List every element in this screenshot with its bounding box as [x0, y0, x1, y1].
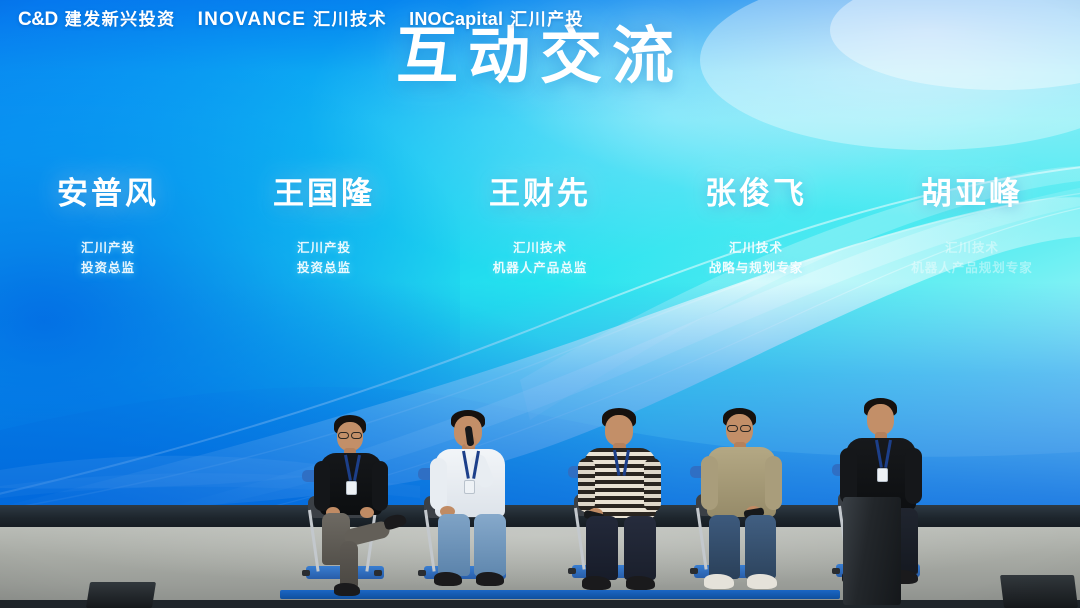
p2-leg-left — [438, 514, 470, 576]
panelist-2: 王国隆 汇川产投 投资总监 — [216, 178, 432, 288]
panelist-5-role: 机器人产品规划专家 — [864, 257, 1080, 276]
p5-arm-right — [905, 448, 922, 504]
panelist-1-role: 投资总监 — [0, 257, 216, 276]
conference-stage-photo: C&D 建发新兴投资 INOVANCE 汇川技术 INOCapital 汇川产投… — [0, 0, 1080, 608]
inocapital-wordmark: INOCapital — [409, 10, 503, 28]
panelist-person-1 — [300, 415, 400, 595]
stage-monitor-front-right — [1000, 575, 1078, 608]
p2-shoe-right — [476, 572, 504, 586]
p4-arm-right — [765, 456, 782, 510]
stage-front-edge — [0, 600, 1080, 608]
p4-leg-left — [709, 515, 740, 579]
cd-jianfa-logo: C&D 建发新兴投资 — [18, 10, 176, 29]
inocapital-chinese: 汇川产投 — [510, 11, 584, 28]
panelist-3-role: 机器人产品总监 — [432, 257, 648, 276]
p2-shoe-left — [434, 572, 462, 586]
cd-logo-mark: C&D — [18, 10, 58, 29]
p4-sneaker-right — [747, 574, 777, 589]
p3-head — [605, 415, 633, 446]
panelist-4-name: 张俊飞 — [648, 178, 864, 209]
p1-hand-right — [360, 507, 374, 518]
inovance-chinese: 汇川技术 — [313, 11, 387, 28]
p3-shoe-right — [626, 576, 655, 590]
panelist-5-name: 胡亚峰 — [864, 178, 1080, 209]
p2-badge — [464, 480, 475, 494]
panelist-person-4 — [688, 408, 796, 600]
panelist-2-org: 汇川产投 — [216, 241, 432, 257]
stage-monitor-center-tall — [843, 497, 901, 605]
p4-glasses-left — [727, 425, 738, 432]
p4-arm-left — [701, 456, 718, 510]
p4-sneaker-left — [704, 574, 734, 589]
panelist-person-3 — [566, 408, 674, 600]
panelist-5: 胡亚峰 汇川技术 机器人产品规划专家 — [864, 178, 1080, 288]
panelist-3-org: 汇川技术 — [432, 241, 648, 257]
p3-leg-left — [586, 516, 618, 580]
p2-arm-left — [430, 458, 447, 510]
p3-shoe-left — [582, 576, 611, 590]
panelist-2-name: 王国隆 — [216, 178, 432, 209]
p5-head — [867, 404, 894, 435]
inovance-logo: INOVANCE 汇川技术 — [198, 10, 387, 29]
p3-leg-right — [624, 516, 656, 580]
stage-monitor-front-left — [86, 582, 156, 608]
p2-leg-right — [474, 514, 506, 576]
p1-shin — [340, 541, 358, 589]
panelist-person-2 — [418, 410, 526, 598]
panelist-1: 安普风 汇川产投 投资总监 — [0, 178, 216, 288]
p3-arm-left — [578, 458, 595, 512]
p4-glasses-right — [740, 425, 751, 432]
p5-arm-left — [840, 448, 857, 504]
panelist-name-row: 安普风 汇川产投 投资总监 王国隆 汇川产投 投资总监 王财先 汇川技术 机器人… — [0, 178, 1080, 288]
p1-badge — [346, 481, 357, 495]
panelist-1-org: 汇川产投 — [0, 241, 216, 257]
p5-badge — [877, 468, 888, 482]
panelist-4-org: 汇川技术 — [648, 241, 864, 257]
panelist-3-name: 王财先 — [432, 178, 648, 209]
panelist-4: 张俊飞 汇川技术 战略与规划专家 — [648, 178, 864, 288]
p1-arm-left — [314, 461, 330, 511]
p3-arm-right — [644, 458, 661, 512]
p1-shoe-lower — [334, 583, 360, 596]
panelist-1-name: 安普风 — [0, 178, 216, 209]
p1-glasses-left — [338, 432, 349, 439]
inovance-wordmark: INOVANCE — [198, 10, 306, 29]
cd-logo-chinese: 建发新兴投资 — [65, 11, 176, 28]
p4-leg-right — [745, 515, 776, 579]
panelist-3: 王财先 汇川技术 机器人产品总监 — [432, 178, 648, 288]
p1-arm-right — [372, 461, 388, 511]
p1-glasses-right — [351, 432, 362, 439]
sponsor-logo-bar: C&D 建发新兴投资 INOVANCE 汇川技术 INOCapital 汇川产投 — [0, 0, 1080, 38]
panelist-2-role: 投资总监 — [216, 257, 432, 276]
panelist-5-org: 汇川技术 — [864, 241, 1080, 257]
inocapital-logo: INOCapital 汇川产投 — [409, 10, 584, 28]
panelist-4-role: 战略与规划专家 — [648, 257, 864, 276]
